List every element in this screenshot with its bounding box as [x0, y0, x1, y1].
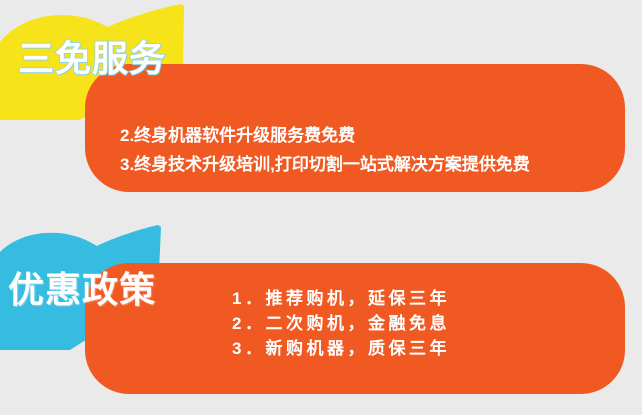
service-banner-title: 三免服务 — [18, 41, 166, 77]
policy-line-2: 2．二次购机，金融免息 — [232, 311, 450, 336]
service-text-block: 2.终身机器软件升级服务费免费 3.终身技术升级培训,打印切割一站式解决方案提供… — [120, 121, 530, 179]
service-line-1: 2.终身机器软件升级服务费免费 — [120, 121, 530, 150]
policy-banner-title: 优惠政策 — [8, 272, 156, 308]
service-line-2: 3.终身技术升级培训,打印切割一站式解决方案提供免费 — [120, 150, 530, 179]
promo-poster: 三免服务 2.终身机器软件升级服务费免费 3.终身技术升级培训,打印切割一站式解… — [0, 0, 642, 415]
policy-line-3: 3．新购机器，质保三年 — [232, 336, 450, 361]
section-service: 三免服务 2.终身机器软件升级服务费免费 3.终身技术升级培训,打印切割一站式解… — [0, 0, 642, 210]
policy-line-1: 1．推荐购机，延保三年 — [232, 286, 450, 311]
policy-text-block: 1．推荐购机，延保三年 2．二次购机，金融免息 3．新购机器，质保三年 — [232, 286, 450, 361]
